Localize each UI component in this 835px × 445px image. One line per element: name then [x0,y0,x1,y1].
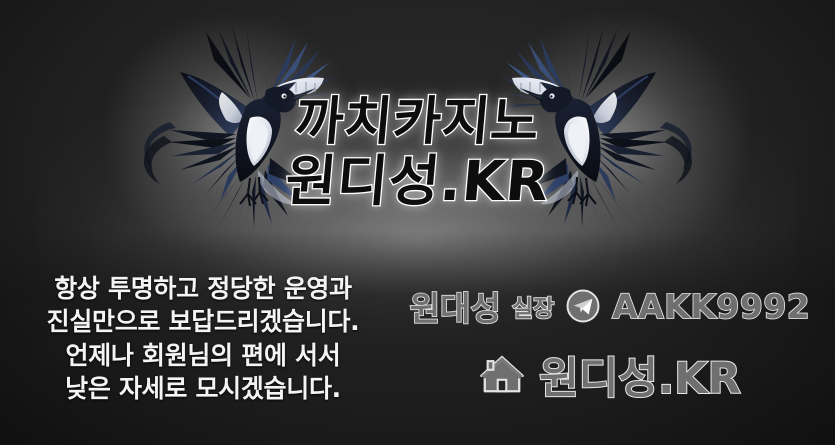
slogan-line: 낮은 자세로 모시겠습니다. [18,372,388,405]
telegram-id[interactable]: AAKK9992 [612,287,810,326]
contact-block: 원대성 실장 AAKK9992 원디성.KR [400,282,820,406]
brand-domain-title: 원디성.KR [0,153,835,209]
manager-name: 원대성 [410,282,501,330]
slogan-line: 항상 투명하고 정당한 운영과 [18,272,388,305]
manager-role: 실장 [512,289,554,323]
slogan-line: 진실만으로 보답드리겠습니다. [18,305,388,338]
contact-telegram-row: 원대성 실장 AAKK9992 [400,282,820,330]
home-icon[interactable] [479,353,525,397]
slogan-line: 언제나 회원님의 편에 서서 [18,339,388,372]
brand-title: 까치카지노 [0,96,835,149]
site-domain[interactable]: 원디성.KR [539,344,740,406]
telegram-icon[interactable] [565,288,601,324]
page-title: 까치카지노 원디성.KR [0,96,835,209]
contact-site-row: 원디성.KR [400,344,820,406]
slogan-block: 항상 투명하고 정당한 운영과 진실만으로 보답드리겠습니다. 언제나 회원님의… [18,272,388,405]
casino-promo-banner: 까치카지노 원디성.KR 항상 투명하고 정당한 운영과 진실만으로 보답드리겠… [0,0,835,445]
